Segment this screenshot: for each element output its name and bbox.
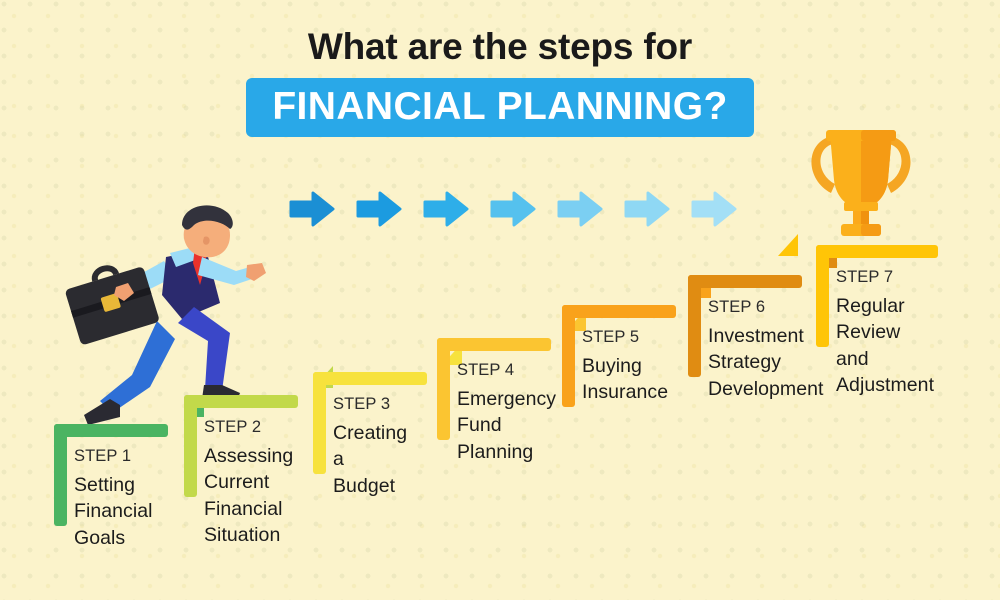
- progress-arrow: [691, 190, 737, 228]
- step-number: STEP 1: [74, 447, 131, 466]
- progress-arrow: [356, 190, 402, 228]
- progress-arrow: [490, 190, 536, 228]
- step-number: STEP 5: [582, 328, 639, 347]
- infographic-canvas: What are the steps for FINANCIAL PLANNIN…: [0, 0, 1000, 600]
- step-title: Setting Financial Goals: [74, 472, 153, 551]
- progress-arrow: [423, 190, 469, 228]
- trophy-icon: [800, 118, 922, 243]
- progress-arrow: [289, 190, 335, 228]
- title-banner-text: FINANCIAL PLANNING?: [272, 85, 727, 128]
- page-title: What are the steps for: [0, 28, 1000, 67]
- step-title: Creating a Budget: [333, 420, 407, 499]
- progress-arrow: [557, 190, 603, 228]
- step-accent-triangle: [778, 234, 798, 256]
- progress-arrow: [624, 190, 670, 228]
- step-title: Investment Strategy Development: [708, 323, 823, 402]
- step-number: STEP 6: [708, 298, 765, 317]
- title-banner: FINANCIAL PLANNING?: [246, 78, 753, 137]
- step-title: Emergency Fund Planning: [457, 386, 556, 465]
- step-title: Assessing Current Financial Situation: [204, 443, 293, 548]
- step-number: STEP 3: [333, 395, 390, 414]
- step-title: Regular Review and Adjustment: [836, 293, 934, 398]
- step-number: STEP 7: [836, 268, 893, 287]
- step-number: STEP 4: [457, 361, 514, 380]
- step-title: Buying Insurance: [582, 353, 668, 406]
- step-number: STEP 2: [204, 418, 261, 437]
- progress-arrows: [289, 190, 759, 230]
